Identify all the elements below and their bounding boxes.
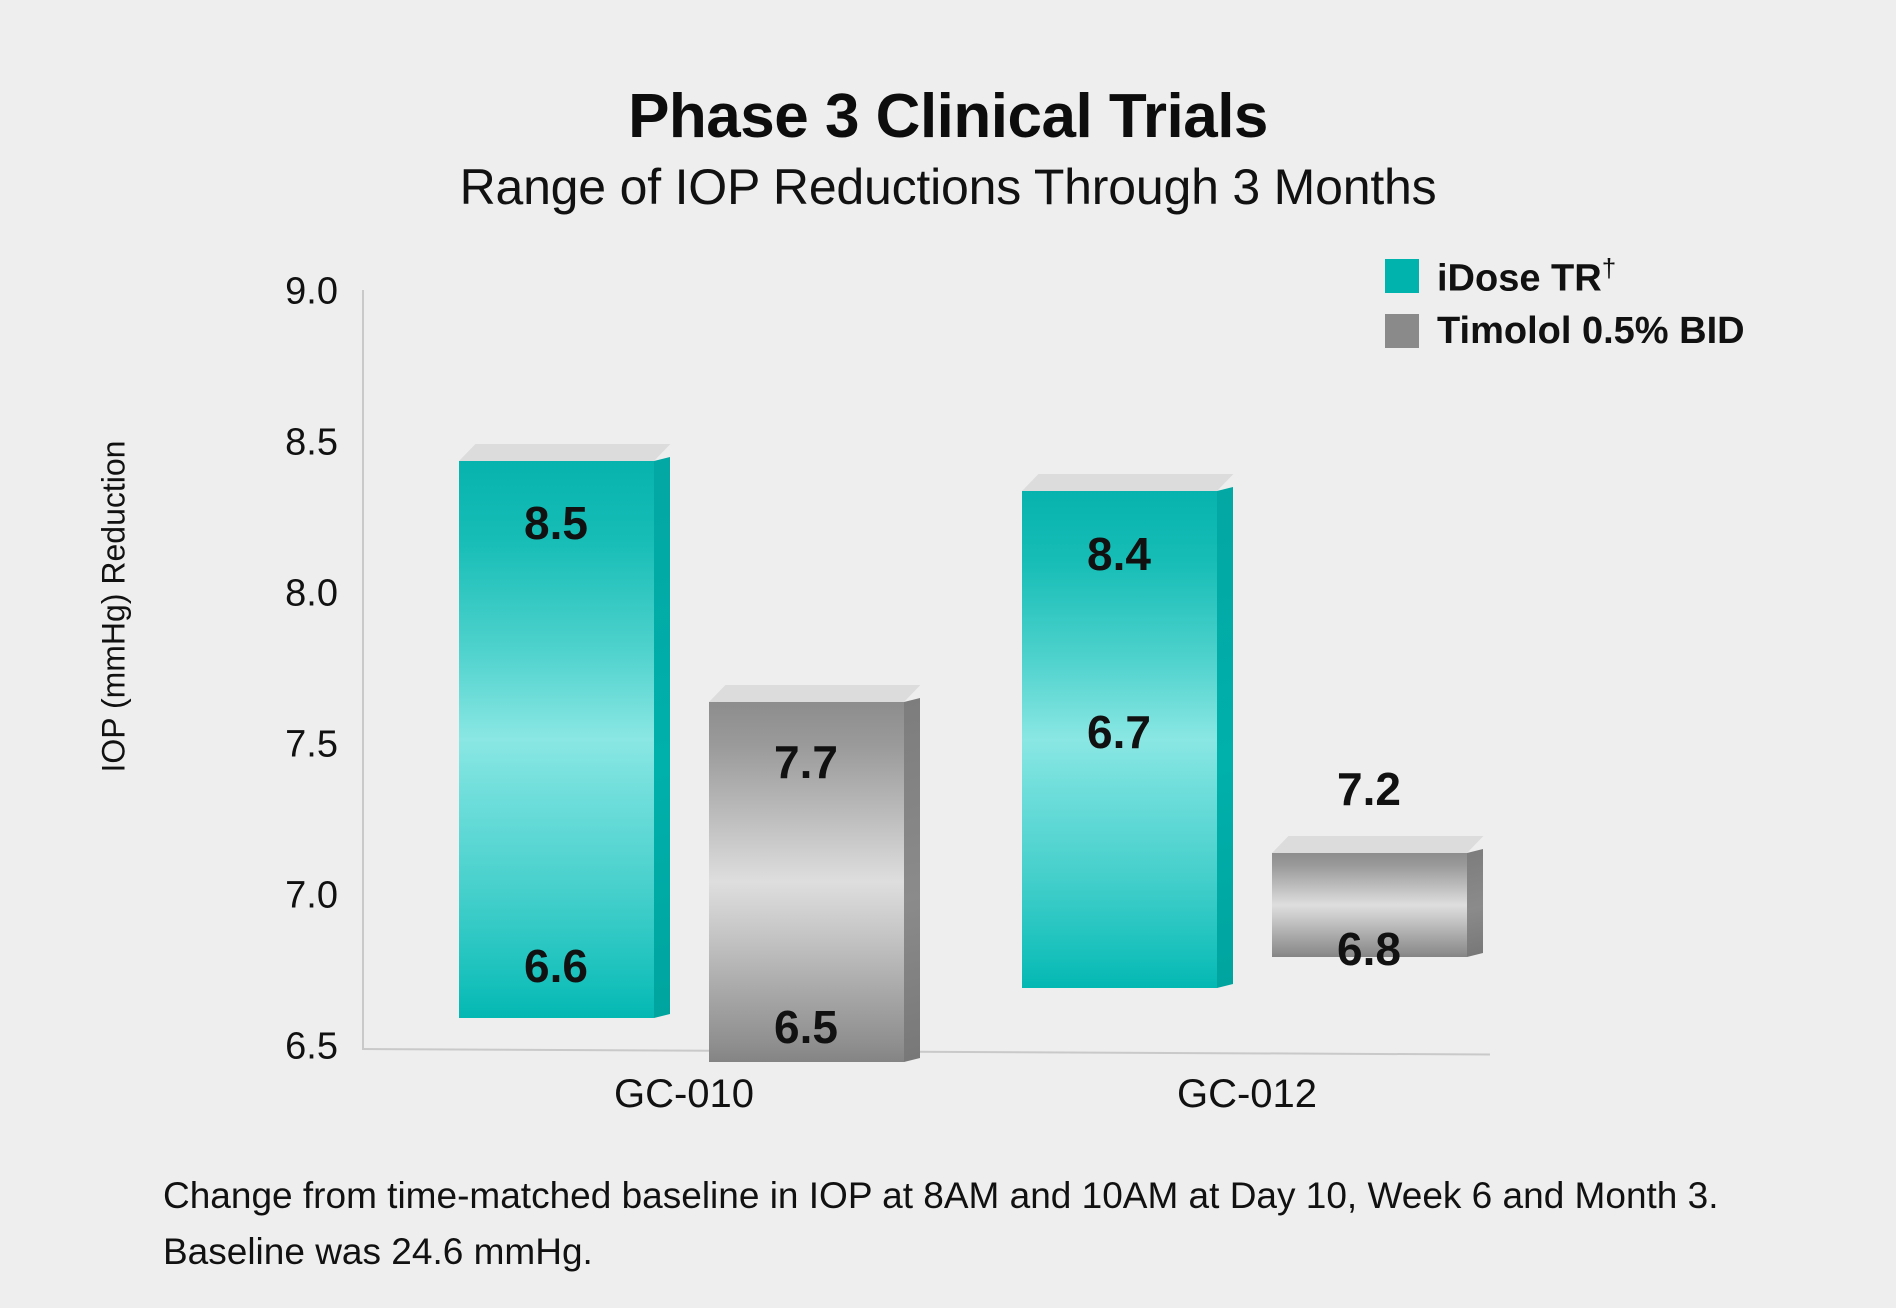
- y-tick-7-5: 7.5: [228, 724, 338, 767]
- legend-label-timolol: Timolol 0.5% BID: [1437, 312, 1745, 350]
- legend-label-idose: iDose TR†: [1437, 255, 1616, 298]
- bar-top-face: [1272, 836, 1483, 853]
- bar-value-gc010-timolol-high: 7.7: [774, 735, 838, 789]
- chart-plot-area: IOP (mmHg) Reduction 9.0 8.5 8.0 7.5 7.0…: [0, 0, 1896, 1308]
- x-tick-gc-010: GC-010: [614, 1072, 754, 1117]
- chart-legend: iDose TR† Timolol 0.5% BID: [1385, 255, 1745, 364]
- bar-side-face: [904, 698, 920, 1062]
- y-axis-title: IOP (mmHg) Reduction: [96, 397, 133, 817]
- bar-value-gc012-idose-low: 6.7: [1087, 705, 1151, 759]
- bar-value-gc012-idose-high: 8.4: [1087, 527, 1151, 581]
- x-axis-line: [362, 1048, 1490, 1056]
- bar-side-face: [1217, 487, 1233, 988]
- legend-swatch-timolol-icon: [1385, 314, 1419, 348]
- bar-side-face: [654, 457, 670, 1018]
- y-tick-9-0: 9.0: [228, 271, 338, 314]
- bar-value-gc010-timolol-low: 6.5: [774, 1000, 838, 1054]
- bar-value-gc012-timolol-low: 6.8: [1337, 922, 1401, 976]
- y-tick-8-0: 8.0: [228, 573, 338, 616]
- y-axis-line: [362, 290, 364, 1050]
- legend-swatch-idose-icon: [1385, 259, 1419, 293]
- legend-item-timolol[interactable]: Timolol 0.5% BID: [1385, 312, 1745, 350]
- y-tick-8-5: 8.5: [228, 422, 338, 465]
- y-tick-7-0: 7.0: [228, 875, 338, 918]
- bar-value-gc012-timolol-high: 7.2: [1337, 762, 1401, 816]
- y-tick-6-5: 6.5: [228, 1026, 338, 1069]
- x-tick-gc-012: GC-012: [1177, 1072, 1317, 1117]
- bar-side-face: [1467, 849, 1483, 957]
- bar-top-face: [1022, 474, 1233, 491]
- bar-top-face: [459, 444, 670, 461]
- bar-value-gc010-idose-high: 8.5: [524, 496, 588, 550]
- bar-value-gc010-idose-low: 6.6: [524, 939, 588, 993]
- chart-footnote: Change from time-matched baseline in IOP…: [163, 1168, 1763, 1279]
- legend-item-idose[interactable]: iDose TR†: [1385, 255, 1745, 298]
- bar-top-face: [709, 685, 920, 702]
- y-axis-ticks: 9.0 8.5 8.0 7.5 7.0 6.5: [228, 0, 338, 1308]
